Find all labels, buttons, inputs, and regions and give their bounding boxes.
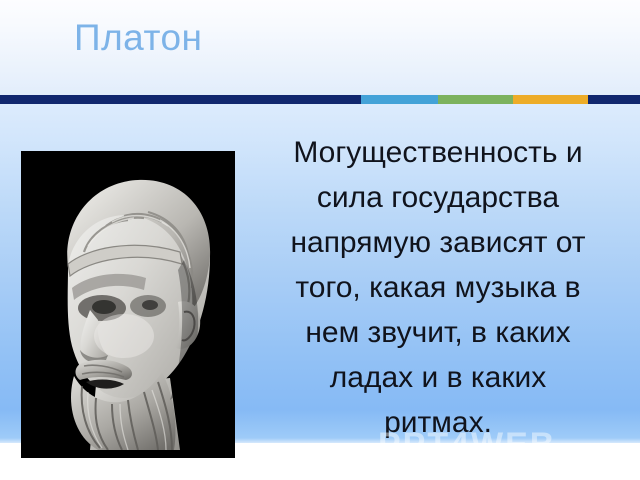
quote-line: сила государства bbox=[243, 175, 633, 220]
divider-segment-navy-left bbox=[0, 95, 361, 104]
title-divider-bar bbox=[0, 95, 640, 104]
divider-segment-blue bbox=[361, 95, 438, 104]
presentation-slide: Платон bbox=[0, 0, 640, 480]
quote-text-block: Могущественность и сила государства напр… bbox=[243, 130, 633, 445]
divider-segment-green bbox=[438, 95, 513, 104]
quote-line: напрямую зависят от bbox=[243, 220, 633, 265]
quote-line: ладах и в каких bbox=[243, 355, 633, 400]
quote-line: ритмах. bbox=[243, 400, 633, 445]
quote-line: Могущественность и bbox=[243, 130, 633, 175]
divider-segment-orange bbox=[513, 95, 588, 104]
divider-segment-navy-right bbox=[588, 95, 640, 104]
plato-bust-image bbox=[28, 160, 228, 450]
quote-line: того, какая музыка в bbox=[243, 265, 633, 310]
slide-title: Платон bbox=[74, 16, 203, 60]
quote-line: нем звучит, в каких bbox=[243, 310, 633, 355]
plato-portrait-frame bbox=[21, 151, 235, 458]
